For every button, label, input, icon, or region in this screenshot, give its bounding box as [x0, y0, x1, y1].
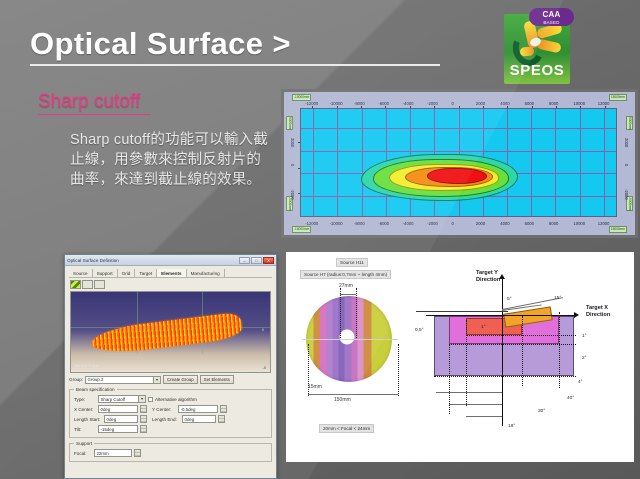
focal-input[interactable]: 22mm	[94, 449, 132, 457]
contour-x-tick: -6000	[378, 101, 389, 106]
ref-line	[449, 344, 576, 345]
chevron-down-icon[interactable]: ▼	[138, 396, 145, 402]
tab-elements[interactable]: Elements	[157, 269, 186, 277]
corner-tag-bottom-right: 15000mm	[609, 226, 627, 233]
type-row: Type: Sharp Cutoff ▼ Alternative algorit…	[74, 395, 267, 403]
length-end-stepper[interactable]	[218, 415, 225, 423]
length-start-stepper[interactable]	[140, 415, 147, 423]
angle-18: 18°	[508, 424, 515, 429]
title-underline	[30, 64, 440, 66]
page-title: Optical Surface >	[30, 28, 470, 61]
color-grid-icon[interactable]	[70, 280, 81, 289]
speos-logo: SPEOS CAA BASED	[504, 8, 574, 84]
ref-line	[466, 320, 467, 406]
tab-source[interactable]: Source	[69, 269, 93, 277]
tilt-label: Tilt:	[74, 427, 96, 432]
disc-dim-arrow	[308, 394, 398, 395]
support-legend: Support	[74, 441, 94, 446]
contour-gridline-v	[507, 109, 508, 216]
logo-wordmark: SPEOS	[504, 62, 570, 79]
target-y-label-line2: Direction	[476, 277, 500, 284]
subheading-block: Sharp cutoff	[38, 92, 151, 115]
angle-40: 40°	[567, 396, 574, 401]
contour-x-tick: -2000	[427, 221, 438, 226]
optical-surface-definition-dialog[interactable]: Optical Surface Definition – □ ✕ SourceS…	[64, 254, 277, 479]
tilt-input[interactable]: -15deg	[98, 425, 138, 433]
contour-x-tick: 10000	[573, 101, 585, 106]
y-axis-arrow-icon	[499, 274, 505, 279]
focal-stepper[interactable]	[134, 449, 141, 457]
corner-tag-bottom-left: -15000mm	[292, 226, 311, 233]
ref-line	[559, 312, 560, 388]
create-group-button[interactable]: Create Group	[163, 375, 198, 384]
tab-target[interactable]: Target	[135, 269, 157, 277]
disc-dim-arrow	[340, 294, 356, 295]
contour-x-tick: -8000	[354, 221, 365, 226]
contour-x-tick: 8000	[549, 221, 558, 226]
contour-level-red	[427, 168, 487, 184]
beam-type-select[interactable]: Sharp Cutoff ▼	[98, 395, 146, 403]
x-center-input[interactable]: 0deg	[98, 405, 138, 413]
length-start-label: Length Start:	[74, 417, 102, 422]
angle-1-inner: 1°	[481, 325, 486, 330]
disc-dim-line	[340, 288, 341, 338]
tilt-stepper[interactable]	[140, 425, 147, 433]
viewport-axis-minus-label: -5	[262, 365, 266, 370]
ref-line	[416, 311, 508, 312]
center-row: X Center: 0deg Y Center: -0.5deg	[74, 405, 267, 413]
contour-gridline-v	[531, 109, 532, 216]
disc-dim-bottom: 150mm	[334, 397, 351, 403]
length-start-input[interactable]: 0deg	[104, 415, 138, 423]
contour-gridline-v	[580, 109, 581, 216]
contour-gridline-v	[362, 109, 363, 216]
angle-1-right: 1°	[582, 334, 587, 339]
angle-5: 5°	[507, 297, 512, 302]
target-y-label-line1: Target Y	[476, 270, 498, 277]
alternative-algorithm-label: Alternative algorithm	[155, 397, 197, 402]
angle-0-5: 0,5°	[415, 328, 424, 333]
x-axis-arrow-icon	[574, 312, 579, 318]
contour-x-tick: -4000	[403, 101, 414, 106]
group-row: Group: Group.2 ▼ Create Group Set Elemen…	[69, 375, 272, 384]
length-row: Length Start: 0deg Length End: 0deg	[74, 415, 267, 423]
contour-y-tick: 0	[624, 164, 629, 166]
optical-surface-mesh	[90, 312, 243, 356]
chevron-down-icon[interactable]: ▼	[153, 377, 160, 383]
contour-x-tick: 10000	[573, 221, 585, 226]
beam-type-value: Sharp Cutoff	[101, 396, 126, 403]
contour-gridline-v	[604, 109, 605, 216]
close-icon[interactable]: ✕	[263, 257, 274, 264]
beam-specification-group: Beam specification Type: Sharp Cutoff ▼ …	[69, 387, 272, 438]
group-value: Group.2	[88, 376, 104, 383]
target-y-axis	[502, 278, 503, 426]
disc-dim-top: 27mm	[339, 283, 353, 289]
percent-icon[interactable]	[94, 280, 105, 289]
contour-x-tick: -10000	[330, 221, 343, 226]
caa-v5-badge: CAA BASED	[529, 8, 574, 26]
tab-manufacturing[interactable]: Manufacturing	[187, 269, 225, 277]
side-tag-right-upper: 5000mm	[626, 116, 633, 130]
dialog-title: Optical Surface Definition	[67, 258, 238, 263]
dialog-tabs[interactable]: SourceSupportGridTargetElementsManufactu…	[69, 269, 272, 278]
x-center-label: X Center:	[74, 407, 96, 412]
contour-x-tick: 0	[452, 221, 454, 226]
corner-tag-top-right: 15000mm	[609, 94, 627, 101]
disc-dim-line	[356, 288, 357, 338]
angle-4-right: 4°	[578, 380, 583, 385]
contour-gridline-v	[337, 109, 338, 216]
dialog-body: SourceSupportGridTargetElementsManufactu…	[65, 266, 276, 462]
disc-centerline	[302, 339, 398, 340]
y-center-input[interactable]: -0.5deg	[178, 405, 218, 413]
side-tag-left-upper: 5000mm	[286, 116, 293, 130]
badge-sub-text: BASED	[529, 20, 574, 25]
contour-gridline-h	[301, 128, 616, 129]
subheading: Sharp cutoff	[38, 92, 151, 113]
set-elements-button[interactable]: Set Elements	[200, 375, 234, 384]
contour-gridline-v	[555, 109, 556, 216]
contour-x-tick: -4000	[403, 221, 414, 226]
length-end-label: Length End:	[152, 417, 180, 422]
title-block: Optical Surface >	[30, 28, 470, 66]
dialog-titlebar[interactable]: Optical Surface Definition – □ ✕	[65, 255, 276, 266]
contour-x-tick: 12000	[598, 101, 610, 106]
disc-center-hole	[340, 330, 355, 345]
contour-x-tick: 2000	[476, 221, 485, 226]
dim-arrow	[436, 392, 502, 393]
group-label: Group:	[69, 377, 83, 382]
tag-source-h11: Source H11	[336, 258, 368, 267]
tag-focal-range: 20mm < Focal < 24mm	[319, 424, 374, 433]
length-end-input[interactable]: 0deg	[182, 415, 216, 423]
contour-gridline-v	[313, 109, 314, 216]
disc-dim-line	[398, 344, 399, 396]
subheading-underline	[38, 114, 151, 116]
beam-specification-legend: Beam specification	[74, 387, 117, 392]
group-select[interactable]: Group.2 ▼	[85, 376, 161, 384]
target-x-label-line2: Direction	[586, 312, 610, 319]
body-paragraph: Sharp cutoff的功能可以輸入截止線，用參數來控制反射片的曲率，來達到截…	[70, 130, 275, 190]
contour-y-tick: 0	[290, 164, 295, 166]
lux-icon[interactable]	[82, 280, 93, 289]
tab-support[interactable]: Support	[93, 269, 118, 277]
dim-arrow	[449, 404, 502, 405]
target-x-axis	[426, 315, 576, 316]
contour-x-tick: -6000	[378, 221, 389, 226]
contour-y-tick: 2000	[624, 138, 629, 147]
x-center-stepper[interactable]	[140, 405, 147, 413]
technical-diagram-image: Source H11 Source H7 (radius:0,7mm ~ len…	[286, 252, 634, 462]
angle-30: 30°	[538, 409, 545, 414]
tilt-row: Tilt: -15deg	[74, 425, 267, 433]
surface-3d-viewport[interactable]: X=-9,3 Y=3,4 0 -5	[70, 291, 271, 373]
type-label: Type:	[74, 397, 96, 402]
contour-x-tick: 12000	[598, 221, 610, 226]
contour-y-tick: -2000	[624, 189, 629, 200]
badge-main-text: CAA	[529, 8, 574, 20]
viewport-axis-zero-label: 0	[262, 327, 264, 332]
disc-dim-left: 15mm	[308, 384, 322, 390]
contour-x-tick: 0	[452, 101, 454, 106]
contour-x-tick: -2000	[427, 101, 438, 106]
maximize-button[interactable]: □	[251, 257, 262, 264]
minimize-button[interactable]: –	[239, 257, 250, 264]
contour-plot-area	[300, 108, 617, 217]
support-group: Support Focal: 22mm	[69, 441, 272, 462]
dialog-toolbar[interactable]	[70, 280, 272, 289]
tag-source-h7: Source H7 (radius:0,7mm ~ length 4mm)	[300, 270, 391, 279]
angle-15: 15°	[554, 296, 561, 301]
angle-2-right: 2°	[582, 356, 587, 361]
y-center-stepper[interactable]	[220, 405, 227, 413]
focal-row: Focal: 22mm	[74, 449, 267, 457]
viewport-coordinate-readout: X=-9,3 Y=3,4	[75, 363, 99, 368]
dim-arrow	[466, 416, 502, 417]
corner-tag-top-left: -15000mm	[292, 94, 311, 101]
slide-canvas: Optical Surface > Sharp cutoff Sharp cut…	[0, 0, 640, 479]
contour-plot-image: -15000mm 15000mm -15000mm 15000mm 5000mm…	[281, 89, 638, 238]
tab-grid[interactable]: Grid	[118, 269, 136, 277]
ref-line	[434, 376, 576, 377]
contour-plot-frame: -15000mm 15000mm -15000mm 15000mm 5000mm…	[284, 92, 635, 235]
contour-x-tick: 6000	[525, 221, 534, 226]
contour-x-tick: -8000	[354, 101, 365, 106]
contour-y-tick: -2000	[290, 189, 295, 200]
focal-label: Focal:	[74, 451, 92, 456]
ref-line	[522, 316, 523, 386]
contour-x-tick: 4000	[500, 221, 509, 226]
target-x-label-line1: Target X	[586, 305, 608, 312]
contour-gridline-h	[301, 151, 616, 152]
contour-x-tick: -12000	[305, 221, 318, 226]
contour-y-tick: 2000	[290, 138, 295, 147]
alternative-algorithm-checkbox[interactable]	[148, 397, 153, 402]
y-center-label: Y Center:	[152, 407, 176, 412]
